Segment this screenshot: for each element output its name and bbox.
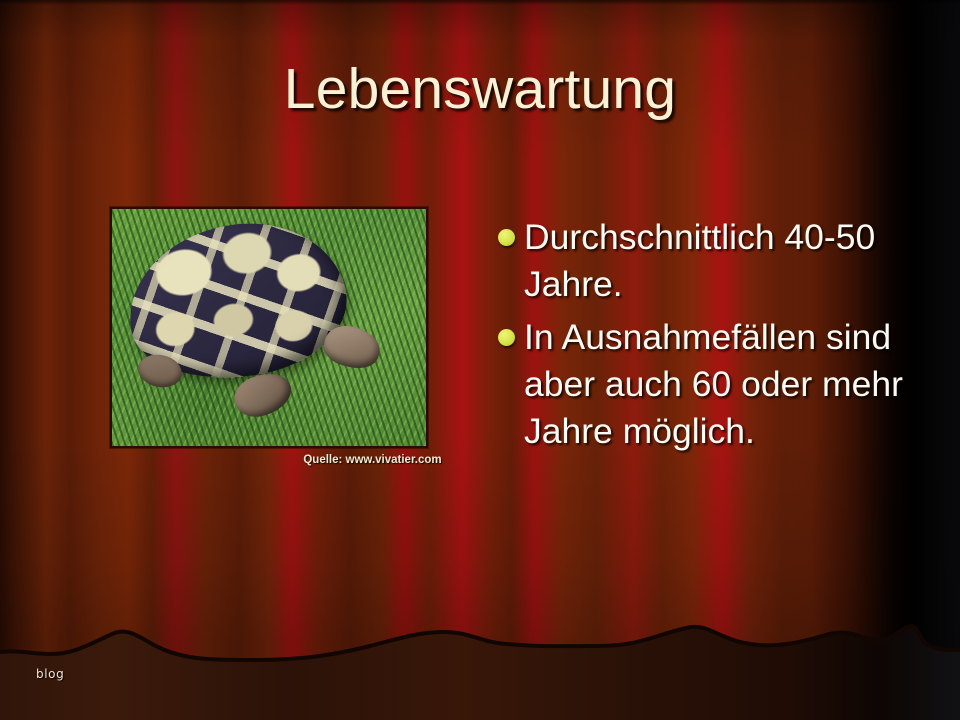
tortoise-photo (110, 207, 428, 448)
list-item: In Ausnahmefällen sind aber auch 60 oder… (498, 314, 940, 455)
ground-shape-icon (0, 610, 960, 720)
slide-title: Lebenswartung (0, 56, 960, 122)
bullet-dot-icon (498, 329, 515, 346)
presentation-slide: Lebenswartung Quelle: www.vivatier.com D… (0, 0, 960, 720)
bullet-item-text: Durchschnittlich 40-50 Jahre. (524, 214, 940, 308)
ground-silhouette (0, 610, 960, 720)
list-item: Durchschnittlich 40-50 Jahre. (498, 214, 940, 308)
bullet-item-text: In Ausnahmefällen sind aber auch 60 oder… (524, 314, 940, 455)
slide-top-edge (0, 0, 960, 5)
blog-watermark: blog (36, 667, 64, 681)
tortoise-photo-image (112, 209, 426, 446)
photo-source-caption: Quelle: www.vivatier.com (255, 453, 490, 467)
bullet-list: Durchschnittlich 40-50 Jahre. In Ausnahm… (498, 214, 940, 461)
bullet-dot-icon (498, 229, 515, 246)
